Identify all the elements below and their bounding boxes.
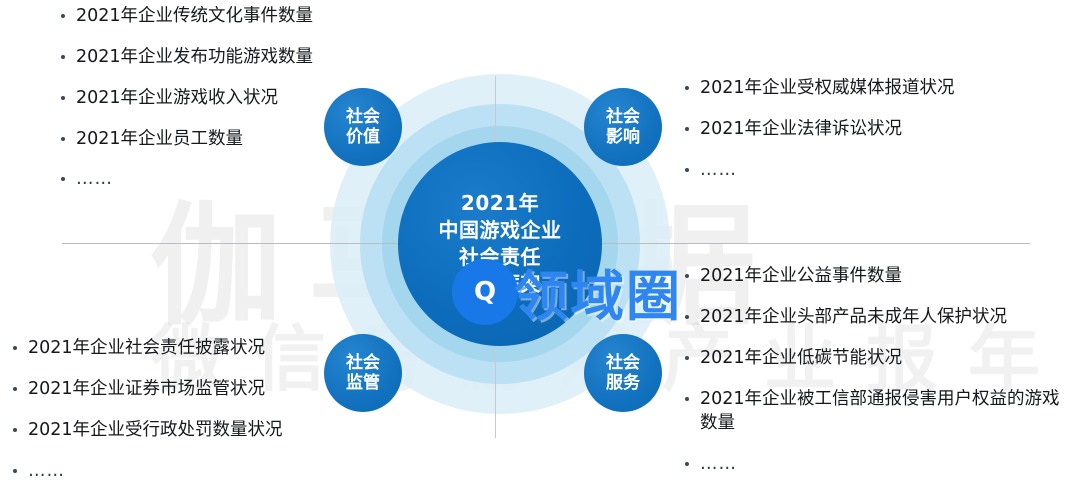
list-social-regulation-items: 2021年企业社会责任披露状况 2021年企业证券市场监管状况 2021年企业受… (10, 336, 340, 483)
node-social-regulation-line-1: 社会 (346, 353, 380, 373)
list-item-ellipsis: …… (58, 167, 388, 192)
node-social-value: 社会 价值 (324, 88, 402, 166)
node-social-regulation-line-2: 监管 (346, 373, 380, 393)
node-social-value-line-1: 社会 (346, 107, 380, 127)
list-item: 2021年企业传统文化事件数量 (58, 4, 388, 29)
list-item: 2021年企业受权威媒体报道状况 (682, 76, 1032, 101)
node-social-service-line-2: 服务 (606, 373, 640, 393)
list-item-ellipsis: …… (682, 158, 1032, 183)
node-social-service-line-1: 社会 (606, 353, 640, 373)
infographic-canvas: 伽马数据 微信号游戏产业报年 2021年 中国游戏企业 社会责任 评估框架 社会… (0, 0, 1080, 494)
center-hub: 2021年 中国游戏企业 社会责任 评估框架 (398, 142, 602, 346)
list-item: 2021年企业公益事件数量 (682, 264, 1072, 289)
node-social-impact: 社会 影响 (584, 88, 662, 166)
node-social-service: 社会 服务 (584, 334, 662, 412)
list-item-ellipsis: …… (682, 452, 1072, 477)
divider-horizontal-right (590, 243, 1030, 244)
center-hub-line-3: 社会责任 (439, 244, 562, 271)
node-social-impact-line-2: 影响 (606, 127, 640, 147)
list-social-service: 2021年企业公益事件数量 2021年企业头部产品未成年人保护状况 2021年企… (682, 264, 1072, 493)
list-social-impact-items: 2021年企业受权威媒体报道状况 2021年企业法律诉讼状况 …… (682, 76, 1032, 183)
node-social-value-line-2: 价值 (346, 127, 380, 147)
list-item: 2021年企业受行政处罚数量状况 (10, 418, 340, 443)
list-item: 2021年企业社会责任披露状况 (10, 336, 340, 361)
list-item: 2021年企业低碳节能状况 (682, 346, 1072, 371)
list-social-impact: 2021年企业受权威媒体报道状况 2021年企业法律诉讼状况 …… (682, 76, 1032, 199)
list-item: 2021年企业头部产品未成年人保护状况 (682, 305, 1072, 330)
list-item: 2021年企业证券市场监管状况 (10, 377, 340, 402)
node-social-regulation: 社会 监管 (324, 334, 402, 412)
list-item: 2021年企业被工信部通报侵害用户权益的游戏数量 (682, 387, 1072, 437)
list-item: 2021年企业发布功能游戏数量 (58, 45, 388, 70)
center-hub-title: 2021年 中国游戏企业 社会责任 评估框架 (439, 190, 562, 298)
center-hub-line-1: 2021年 (439, 190, 562, 217)
center-hub-line-2: 中国游戏企业 (439, 217, 562, 244)
node-social-impact-line-1: 社会 (606, 107, 640, 127)
list-social-service-items: 2021年企业公益事件数量 2021年企业头部产品未成年人保护状况 2021年企… (682, 264, 1072, 477)
list-social-regulation: 2021年企业社会责任披露状况 2021年企业证券市场监管状况 2021年企业受… (10, 336, 340, 494)
center-hub-line-4: 评估框架 (439, 271, 562, 298)
list-item-ellipsis: …… (10, 459, 340, 484)
list-item: 2021年企业法律诉讼状况 (682, 117, 1032, 142)
